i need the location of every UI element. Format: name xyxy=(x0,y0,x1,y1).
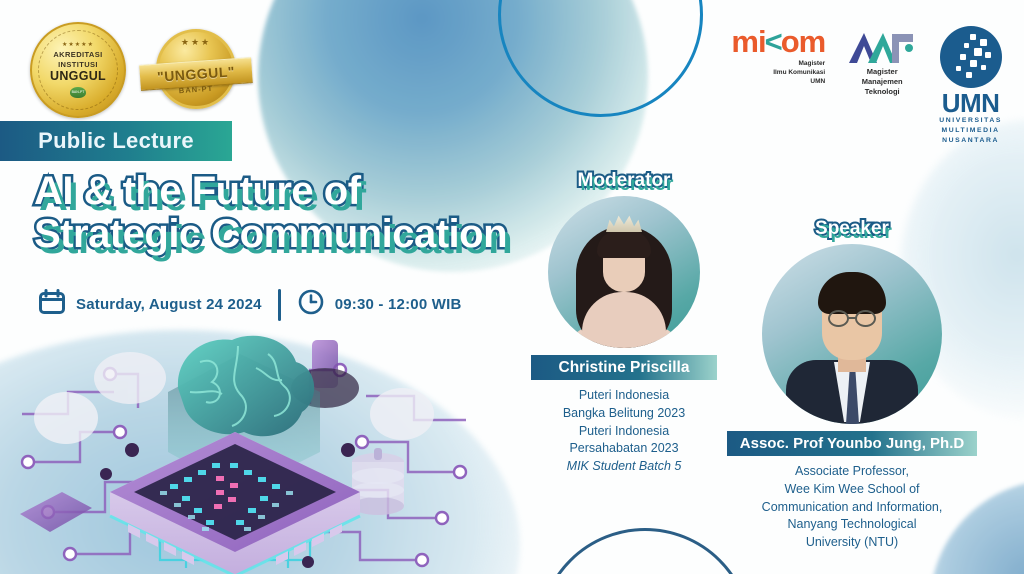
moderator-name-bar: Christine Priscilla xyxy=(531,355,717,380)
mmt-logo: Magister Manajemen Teknologi xyxy=(847,26,917,97)
speaker-credentials: Associate Professor, Wee Kim Wee School … xyxy=(716,463,988,552)
umn-subtitle-3: NUSANTARA xyxy=(939,136,1002,146)
glasses-icon-left xyxy=(828,310,849,327)
unggul-ban-pt-badge: ★★★ "UNGGUL" BAN-PT xyxy=(140,25,252,115)
moderator-name: Christine Priscilla xyxy=(559,359,690,377)
speaker-cred-3: Communication and Information, xyxy=(716,499,988,517)
speaker-role-label: Speaker xyxy=(815,218,889,240)
speaker-hair xyxy=(818,272,886,314)
speaker-cred-2: Wee Kim Wee School of xyxy=(716,481,988,499)
moderator-credentials: Puteri Indonesia Bangka Belitung 2023 Pu… xyxy=(516,387,732,476)
crown-icon xyxy=(606,212,642,232)
moderator-cred-4: Persahabatan 2023 xyxy=(516,440,732,458)
ai-brain-chip-illustration xyxy=(10,322,480,574)
moderator-photo xyxy=(548,196,700,348)
mikom-wordmark: mi < om xyxy=(731,26,825,57)
umn-dome-icon xyxy=(940,26,1002,88)
event-meta: Saturday, August 24 2024 09:30 - 12:00 W… xyxy=(38,288,462,321)
moderator-cred-3: Puteri Indonesia xyxy=(516,423,732,441)
mmt-tagline: Magister Manajemen Teknologi xyxy=(862,67,903,97)
speaker-name: Assoc. Prof Younbo Jung, Ph.D xyxy=(740,435,964,452)
speaker-photo xyxy=(762,244,942,424)
mikom-tagline-1: Magister xyxy=(773,60,825,69)
institution-logos: mi < om Magister Ilmu Komunikasi UMN xyxy=(731,26,1002,146)
mmt-tagline-1: Magister xyxy=(862,67,903,77)
mikom-tagline-2: Ilmu Komunikasi xyxy=(773,69,825,78)
decorative-ring-top xyxy=(498,0,703,117)
event-date-text: Saturday, August 24 2024 xyxy=(76,296,262,313)
badge-inner-ring xyxy=(38,30,118,110)
moderator-block: Moderator Christine Priscilla Puteri Ind… xyxy=(516,170,732,476)
umn-subtitle: UNIVERSITAS MULTIMEDIA NUSANTARA xyxy=(939,116,1002,146)
speaker-cred-1: Associate Professor, xyxy=(716,463,988,481)
mikom-tagline: Magister Ilmu Komunikasi UMN xyxy=(773,60,825,86)
moderator-cred-5: MIK Student Batch 5 xyxy=(516,458,732,476)
moderator-cred-1: Puteri Indonesia xyxy=(516,387,732,405)
glasses-icon-right xyxy=(855,310,876,327)
event-poster: ★★★★★ AKREDITASI INSTITUSI UNGGUL BAN-PT… xyxy=(0,0,1024,574)
public-lecture-label: Public Lecture xyxy=(38,128,194,154)
speaker-cred-5: University (NTU) xyxy=(716,534,988,552)
event-time-text: 09:30 - 12:00 WIB xyxy=(335,296,462,313)
meta-divider xyxy=(278,289,281,321)
badge-star-arc-icon: ★★★ xyxy=(140,37,252,48)
mikom-tagline-3: UMN xyxy=(773,78,825,87)
glasses-bridge-icon xyxy=(848,317,856,319)
event-title-line-2: Strategic Communication xyxy=(34,213,507,256)
umn-subtitle-2: MULTIMEDIA xyxy=(939,126,1002,136)
mmt-tagline-2: Manajemen xyxy=(862,77,903,87)
akreditasi-institusi-unggul-badge: ★★★★★ AKREDITASI INSTITUSI UNGGUL BAN-PT xyxy=(30,22,126,118)
speaker-cred-4: Nanyang Technological xyxy=(716,516,988,534)
mikom-word-left: mi xyxy=(731,26,765,57)
mikom-chevron-icon: < xyxy=(765,26,782,57)
umn-logo: UMN UNIVERSITAS MULTIMEDIA NUSANTARA xyxy=(939,26,1002,146)
speaker-block: Speaker Assoc. Prof Younbo Jung, Ph.D As… xyxy=(716,218,988,552)
mikom-logo: mi < om Magister Ilmu Komunikasi UMN xyxy=(731,26,825,86)
umn-wordmark: UMN xyxy=(942,90,1000,116)
event-title-line-1: AI & the Future of xyxy=(34,170,507,213)
public-lecture-banner: Public Lecture xyxy=(0,121,232,161)
calendar-icon xyxy=(38,288,66,321)
event-date: Saturday, August 24 2024 xyxy=(38,288,262,321)
event-title: AI & the Future of Strategic Communicati… xyxy=(34,170,507,256)
speaker-name-bar: Assoc. Prof Younbo Jung, Ph.D xyxy=(727,431,977,456)
umn-subtitle-1: UNIVERSITAS xyxy=(939,116,1002,126)
mmt-tagline-3: Teknologi xyxy=(862,87,903,97)
moderator-cred-2: Bangka Belitung 2023 xyxy=(516,405,732,423)
event-time: 09:30 - 12:00 WIB xyxy=(297,288,462,321)
badge-ribbon-label: "UNGGUL" xyxy=(157,63,236,84)
mikom-word-right: om xyxy=(781,26,826,57)
accreditation-badges: ★★★★★ AKREDITASI INSTITUSI UNGGUL BAN-PT… xyxy=(30,22,252,118)
mmt-mark-icon xyxy=(847,30,917,64)
moderator-role-label: Moderator xyxy=(578,170,671,192)
clock-icon xyxy=(297,288,325,321)
moderator-hair-top xyxy=(597,230,651,258)
